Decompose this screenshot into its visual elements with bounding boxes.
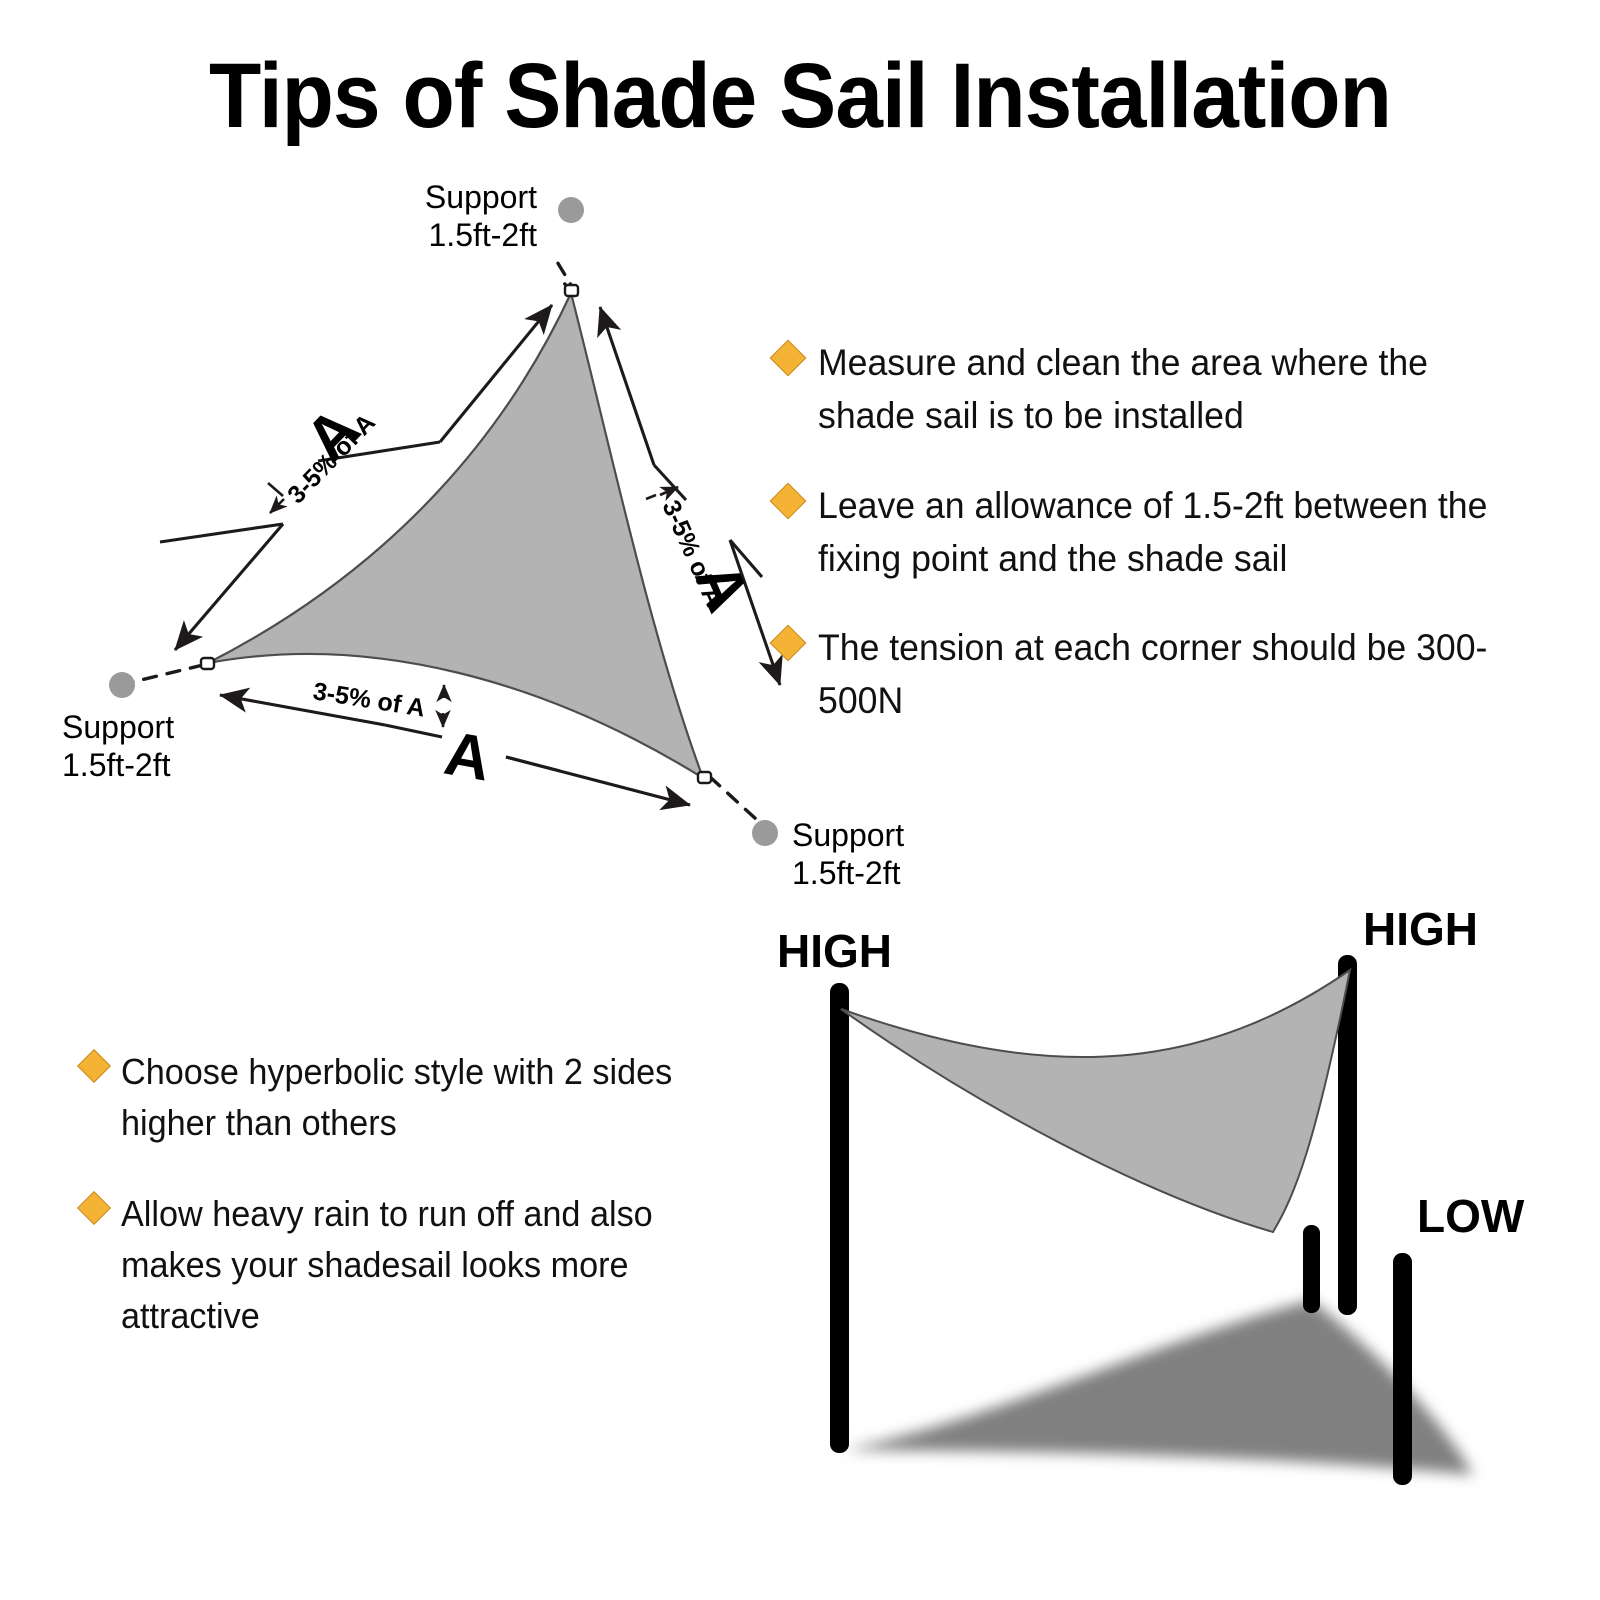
- infographic-page: Tips of Shade Sail Installation: [0, 0, 1600, 1600]
- list-item-label: The tension at each corner should be 300…: [818, 621, 1499, 728]
- support-label-left: Support 1.5ft-2ft: [62, 709, 174, 783]
- list-item[interactable]: The tension at each corner should be 300…: [775, 621, 1535, 728]
- svg-text:1.5ft-2ft: 1.5ft-2ft: [429, 217, 538, 253]
- list-item-label: Choose hyperbolic style with 2 sides hig…: [121, 1046, 749, 1148]
- support-dot-left: [109, 672, 135, 698]
- svg-text:Support: Support: [792, 817, 904, 853]
- tips-list-bottom-left: Choose hyperbolic style with 2 sides hig…: [82, 1046, 782, 1382]
- post-right-low-label: LOW: [1417, 1190, 1525, 1242]
- list-item[interactable]: Allow heavy rain to run off and also mak…: [82, 1188, 782, 1341]
- hyperbolic-shade-sail-diagram: HIGH HIGH LOW: [755, 895, 1600, 1535]
- list-item[interactable]: Choose hyperbolic style with 2 sides hig…: [82, 1046, 782, 1148]
- diamond-bullet-icon: [770, 482, 807, 519]
- support-label-bottom-right: Support 1.5ft-2ft: [792, 817, 904, 891]
- svg-text:1.5ft-2ft: 1.5ft-2ft: [62, 747, 171, 783]
- post-center-short: [1303, 1235, 1320, 1313]
- support-label-top: Support 1.5ft-2ft: [425, 179, 537, 253]
- support-dot-top: [558, 197, 584, 223]
- diamond-bullet-icon: [77, 1191, 111, 1225]
- svg-text:Support: Support: [425, 179, 537, 215]
- svg-text:1.5ft-2ft: 1.5ft-2ft: [792, 855, 901, 891]
- list-item[interactable]: Measure and clean the area where the sha…: [775, 336, 1535, 443]
- tips-list-right: Measure and clean the area where the sha…: [775, 336, 1535, 764]
- diamond-bullet-icon: [77, 1049, 111, 1083]
- diamond-bullet-icon: [770, 340, 807, 377]
- post-left-high-label: HIGH: [777, 925, 892, 977]
- list-item[interactable]: Leave an allowance of 1.5-2ft between th…: [775, 479, 1535, 586]
- post-right-low: [1393, 1253, 1412, 1485]
- page-title: Tips of Shade Sail Installation: [56, 48, 1544, 145]
- support-dot-bottom-right: [752, 820, 778, 846]
- post-right-high-label: HIGH: [1363, 903, 1478, 955]
- diamond-bullet-icon: [770, 625, 807, 662]
- sail-ground-shadow: [845, 1300, 1473, 1475]
- list-item-label: Leave an allowance of 1.5-2ft between th…: [818, 479, 1499, 586]
- edge-bottom-label-A: A: [440, 719, 496, 795]
- svg-text:Support: Support: [62, 709, 174, 745]
- dimension-bottom-allowance: 3-5% of A: [311, 677, 444, 727]
- list-item-label: Measure and clean the area where the sha…: [818, 336, 1499, 443]
- post-left-high: [830, 983, 849, 1453]
- list-item-label: Allow heavy rain to run off and also mak…: [121, 1188, 749, 1341]
- hyperbolic-sail-surface: [841, 970, 1350, 1232]
